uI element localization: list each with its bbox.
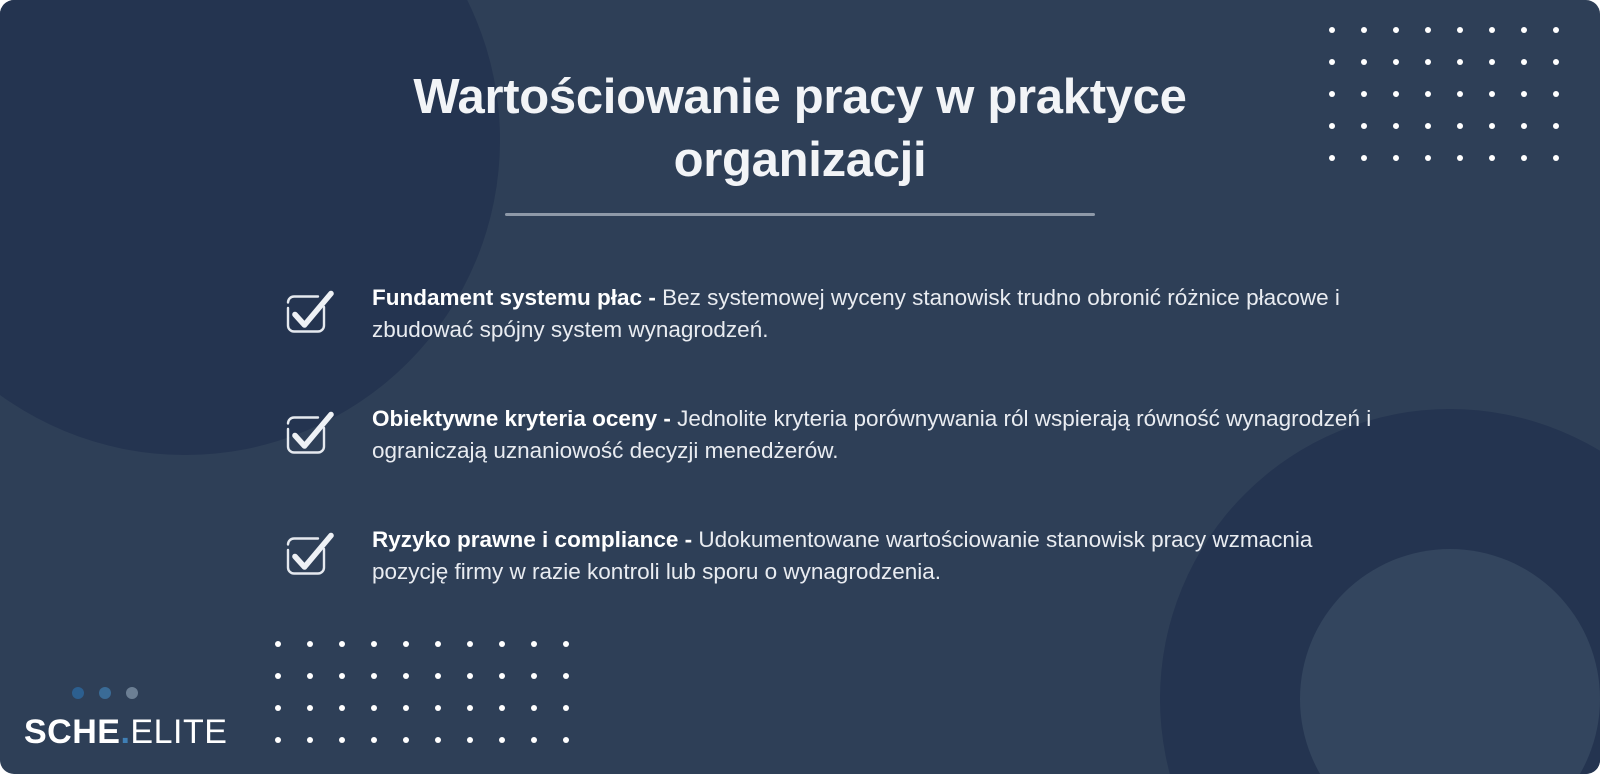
logo-wordmark: SCHE.ELITE bbox=[24, 713, 227, 752]
grid-dot bbox=[371, 737, 377, 743]
grid-dot bbox=[1425, 59, 1431, 65]
grid-dot bbox=[531, 673, 537, 679]
grid-dot bbox=[307, 705, 313, 711]
grid-dot bbox=[1553, 27, 1559, 33]
grid-dot bbox=[563, 641, 569, 647]
grid-dot bbox=[531, 641, 537, 647]
title-divider bbox=[505, 213, 1095, 216]
grid-dot bbox=[435, 705, 441, 711]
grid-dot bbox=[435, 641, 441, 647]
grid-dot bbox=[467, 737, 473, 743]
grid-dot bbox=[499, 737, 505, 743]
list-item-lead: Ryzyko prawne i compliance - bbox=[372, 527, 692, 552]
grid-dot bbox=[1393, 59, 1399, 65]
list-item-lead: Obiektywne kryteria oceny - bbox=[372, 406, 671, 431]
list-item-lead: Fundament systemu płac - bbox=[372, 285, 656, 310]
list-item-text: Fundament systemu płac - Bez systemowej … bbox=[372, 282, 1382, 346]
grid-dot bbox=[1361, 59, 1367, 65]
grid-dot bbox=[531, 737, 537, 743]
grid-dot bbox=[403, 673, 409, 679]
grid-dot bbox=[275, 673, 281, 679]
checkbox-check-icon bbox=[278, 405, 336, 463]
slide-canvas: Wartościowanie pracy w praktyce organiza… bbox=[0, 0, 1600, 774]
grid-dot bbox=[275, 641, 281, 647]
grid-dot bbox=[371, 673, 377, 679]
grid-dot bbox=[307, 673, 313, 679]
logo-dot-1 bbox=[72, 687, 84, 699]
logo-name-bold: SCHE bbox=[24, 713, 120, 751]
grid-dot bbox=[1393, 27, 1399, 33]
checkbox-check-icon bbox=[278, 284, 336, 342]
grid-dot bbox=[339, 705, 345, 711]
grid-dot bbox=[435, 673, 441, 679]
grid-dot bbox=[1329, 59, 1335, 65]
grid-dot bbox=[467, 705, 473, 711]
list-item: Ryzyko prawne i compliance - Udokumentow… bbox=[278, 524, 1383, 588]
grid-dot bbox=[467, 641, 473, 647]
logo-dot-3 bbox=[126, 687, 138, 699]
grid-dot bbox=[1521, 27, 1527, 33]
grid-dot bbox=[467, 673, 473, 679]
dot-grid-bottom-left bbox=[262, 628, 582, 756]
grid-dot bbox=[1361, 27, 1367, 33]
grid-dot bbox=[1457, 59, 1463, 65]
grid-dot bbox=[339, 673, 345, 679]
grid-dot bbox=[499, 705, 505, 711]
grid-dot bbox=[499, 673, 505, 679]
list-item: Obiektywne kryteria oceny - Jednolite kr… bbox=[278, 403, 1383, 467]
checkbox-check-icon bbox=[278, 526, 336, 584]
grid-dot bbox=[1425, 27, 1431, 33]
grid-dot bbox=[403, 737, 409, 743]
logo-separator-dot: . bbox=[120, 713, 130, 751]
grid-dot bbox=[563, 673, 569, 679]
grid-dot bbox=[531, 705, 537, 711]
grid-dot bbox=[371, 705, 377, 711]
grid-dot bbox=[403, 641, 409, 647]
logo-name-light: ELITE bbox=[130, 713, 227, 751]
grid-dot bbox=[1553, 59, 1559, 65]
grid-dot bbox=[275, 705, 281, 711]
grid-dot bbox=[563, 737, 569, 743]
logo-dot-2 bbox=[99, 687, 111, 699]
grid-dot bbox=[403, 705, 409, 711]
grid-dot bbox=[307, 641, 313, 647]
grid-dot bbox=[1489, 27, 1495, 33]
grid-dot bbox=[339, 737, 345, 743]
grid-dot bbox=[1521, 59, 1527, 65]
grid-dot bbox=[275, 737, 281, 743]
bullet-list: Fundament systemu płac - Bez systemowej … bbox=[278, 282, 1383, 588]
grid-dot bbox=[1457, 27, 1463, 33]
grid-dot bbox=[307, 737, 313, 743]
list-item-text: Ryzyko prawne i compliance - Udokumentow… bbox=[372, 524, 1382, 588]
grid-dot bbox=[1489, 59, 1495, 65]
list-item-text: Obiektywne kryteria oceny - Jednolite kr… bbox=[372, 403, 1382, 467]
title-block: Wartościowanie pracy w praktyce organiza… bbox=[0, 66, 1600, 216]
grid-dot bbox=[339, 641, 345, 647]
brand-logo: SCHE.ELITE bbox=[24, 687, 227, 752]
grid-dot bbox=[499, 641, 505, 647]
grid-dot bbox=[1329, 27, 1335, 33]
grid-dot bbox=[435, 737, 441, 743]
list-item: Fundament systemu płac - Bez systemowej … bbox=[278, 282, 1383, 346]
page-title: Wartościowanie pracy w praktyce organiza… bbox=[360, 66, 1240, 191]
grid-dot bbox=[371, 641, 377, 647]
logo-dots bbox=[72, 687, 227, 699]
grid-dot bbox=[563, 705, 569, 711]
